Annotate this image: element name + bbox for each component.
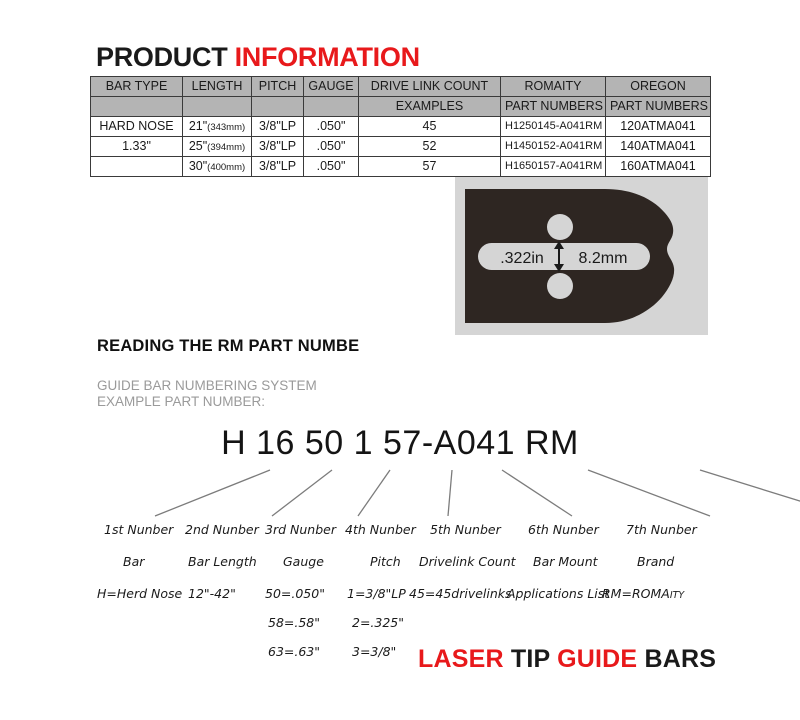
subtitle-line-2: EXAMPLE PART NUMBER: — [97, 394, 317, 410]
callout-field-5: Drivelink Count — [419, 554, 516, 569]
footer-word-tip: TIP — [511, 645, 550, 673]
slot-dimension-mm: 8.2mm — [579, 250, 628, 267]
table-row: HARD NOSE 21"(343mm) 3/8"LP .050" 45 H12… — [91, 117, 711, 137]
callout-detail-brand-suffix: ITY — [670, 590, 684, 601]
section-heading: READING THE RM PART NUMBE — [97, 337, 359, 356]
page-title-information: INFORMATION — [235, 42, 420, 72]
column-header-romaity: ROMAITY — [501, 77, 606, 97]
column-header-pitch: PITCH — [252, 77, 304, 97]
column-header-length: LENGTH — [183, 77, 252, 97]
cell-drive-link-count: 52 — [359, 137, 501, 157]
cell-length-inches: 25" — [189, 139, 207, 153]
cell-bar-type: HARD NOSE — [91, 117, 183, 137]
subtitle-line-1: GUIDE BAR NUMBERING SYSTEM — [97, 378, 317, 394]
cell-pitch: 3/8"LP — [252, 137, 304, 157]
section-subtitle: GUIDE BAR NUMBERING SYSTEM EXAMPLE PART … — [97, 378, 317, 410]
cell-bar-type — [91, 157, 183, 177]
callout-ordinal-1: 1st Nunber — [104, 522, 173, 537]
subheader-gauge — [304, 97, 359, 117]
callout-field-3: Gauge — [283, 554, 324, 569]
leader-line-4 — [448, 470, 452, 516]
subheader-pitch — [252, 97, 304, 117]
callout-field-7: Brand — [637, 554, 674, 569]
cell-drive-link-count: 57 — [359, 157, 501, 177]
callout-detail-gauge: 50=.050" — [265, 586, 325, 601]
callout-field-2: Bar Length — [188, 554, 257, 569]
cell-romaity-part-number: H1450152-A041RM — [501, 137, 606, 157]
leader-line-5 — [502, 470, 572, 516]
callout-detail-bar: H=Herd Nose — [97, 586, 182, 601]
cell-gauge: .050" — [304, 137, 359, 157]
callout-detail-drivelink: 45=45drivelinks — [409, 586, 512, 601]
guide-bar-illustration: .322in 8.2mm — [455, 177, 708, 335]
table-header-row-primary: BAR TYPE LENGTH PITCH GAUGE DRIVE LINK C… — [91, 77, 711, 97]
footer-logo: LASER TIP GUIDE BARS — [418, 645, 716, 674]
cell-length-mm: (400mm) — [207, 162, 245, 173]
cell-romaity-part-number: H1250145-A041RM — [501, 117, 606, 137]
footer-word-laser: LASER — [418, 645, 504, 673]
column-header-gauge: GAUGE — [304, 77, 359, 97]
subheader-length — [183, 97, 252, 117]
callout-grid: 1st Nunber 2nd Nunber 3rd Nunber 4th Nun… — [0, 512, 800, 652]
cell-length: 30"(400mm) — [183, 157, 252, 177]
callout-ordinal-5: 5th Nunber — [430, 522, 501, 537]
example-part-number: H 16 50 1 57-A041 RM — [0, 424, 800, 463]
subheader-drive-link-count: EXAMPLES — [359, 97, 501, 117]
column-header-oregon: OREGON — [606, 77, 711, 97]
bar-rivet-hole-top — [547, 214, 573, 240]
subheader-romaity: PART NUMBERS — [501, 97, 606, 117]
cell-length-mm: (394mm) — [207, 142, 245, 153]
subheader-bar-type — [91, 97, 183, 117]
leader-line-2 — [272, 470, 332, 516]
callout-ordinal-6: 6th Nunber — [528, 522, 599, 537]
page-title-product: PRODUCT — [96, 42, 227, 72]
callout-detail-brand: RM=ROMAITY — [602, 586, 684, 601]
leader-line-6 — [588, 470, 710, 516]
callout-detail-gauge-63: 63=.63" — [268, 644, 320, 659]
callout-ordinal-7: 7th Nunber — [626, 522, 697, 537]
callout-detail-bar-mount: Applications List — [507, 586, 609, 601]
callout-field-6: Bar Mount — [533, 554, 598, 569]
callout-ordinal-3: 3rd Nunber — [265, 522, 336, 537]
callout-detail-pitch: 1=3/8"LP — [347, 586, 406, 601]
product-spec-table: BAR TYPE LENGTH PITCH GAUGE DRIVE LINK C… — [90, 76, 711, 177]
callout-field-4: Pitch — [370, 554, 401, 569]
subheader-oregon: PART NUMBERS — [606, 97, 711, 117]
table-row: 1.33" 25"(394mm) 3/8"LP .050" 52 H145015… — [91, 137, 711, 157]
cell-length-inches: 30" — [189, 159, 207, 173]
cell-gauge: .050" — [304, 157, 359, 177]
cell-length-mm: (343mm) — [207, 122, 245, 133]
cell-length: 21"(343mm) — [183, 117, 252, 137]
cell-length: 25"(394mm) — [183, 137, 252, 157]
footer-word-bars: BARS — [644, 645, 716, 673]
footer-word-guide: GUIDE — [557, 645, 637, 673]
cell-pitch: 3/8"LP — [252, 157, 304, 177]
cell-drive-link-count: 45 — [359, 117, 501, 137]
leader-line-3 — [358, 470, 390, 516]
callout-ordinal-2: 2nd Nunber — [185, 522, 259, 537]
table-row: 30"(400mm) 3/8"LP .050" 57 H1650157-A041… — [91, 157, 711, 177]
cell-oregon-part-number: 120ATMA041 — [606, 117, 711, 137]
cell-romaity-part-number: H1650157-A041RM — [501, 157, 606, 177]
callout-detail-gauge-58: 58=.58" — [268, 615, 320, 630]
cell-oregon-part-number: 160ATMA041 — [606, 157, 711, 177]
column-header-bar-type: BAR TYPE — [91, 77, 183, 97]
column-header-drive-link-count: DRIVE LINK COUNT — [359, 77, 501, 97]
cell-length-inches: 21" — [189, 119, 207, 133]
table-header-row-secondary: EXAMPLES PART NUMBERS PART NUMBERS — [91, 97, 711, 117]
callout-field-1: Bar — [123, 554, 144, 569]
slot-dimension-inches: .322in — [500, 250, 544, 267]
callout-ordinal-4: 4th Nunber — [345, 522, 416, 537]
leader-line-7 — [700, 470, 800, 516]
bar-rivet-hole-bottom — [547, 273, 573, 299]
callout-detail-pitch-325: 2=.325" — [352, 615, 404, 630]
cell-bar-type: 1.33" — [91, 137, 183, 157]
cell-oregon-part-number: 140ATMA041 — [606, 137, 711, 157]
leader-line-1 — [155, 470, 270, 516]
callout-detail-bar-length: 12"-42" — [188, 586, 236, 601]
callout-detail-pitch-38: 3=3/8" — [352, 644, 396, 659]
cell-pitch: 3/8"LP — [252, 117, 304, 137]
page-title: PRODUCT INFORMATION — [96, 42, 420, 73]
callout-detail-brand-main: RM=ROMA — [602, 586, 670, 601]
cell-gauge: .050" — [304, 117, 359, 137]
